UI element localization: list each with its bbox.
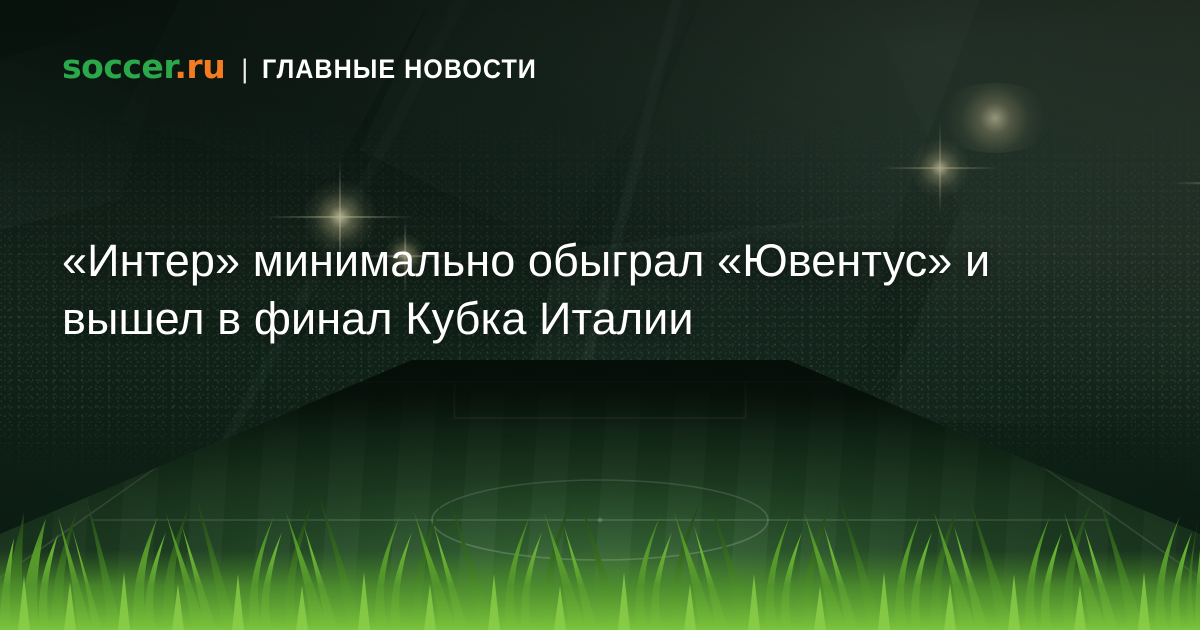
brand-divider: | bbox=[241, 56, 248, 83]
site-logo-name: soccer bbox=[62, 47, 174, 86]
site-logo[interactable]: soccer.ru bbox=[62, 50, 225, 83]
article-headline: «Интер» минимально обыграл «Ювентус» и в… bbox=[62, 232, 1122, 348]
card-content: soccer.ru | ГЛАВНЫЕ НОВОСТИ «Интер» мини… bbox=[0, 0, 1200, 630]
section-label: ГЛАВНЫЕ НОВОСТИ bbox=[262, 56, 537, 83]
brand-bar: soccer.ru | ГЛАВНЫЕ НОВОСТИ bbox=[62, 50, 558, 83]
site-logo-tld: .ru bbox=[174, 47, 225, 86]
news-share-card: soccer.ru | ГЛАВНЫЕ НОВОСТИ «Интер» мини… bbox=[0, 0, 1200, 630]
